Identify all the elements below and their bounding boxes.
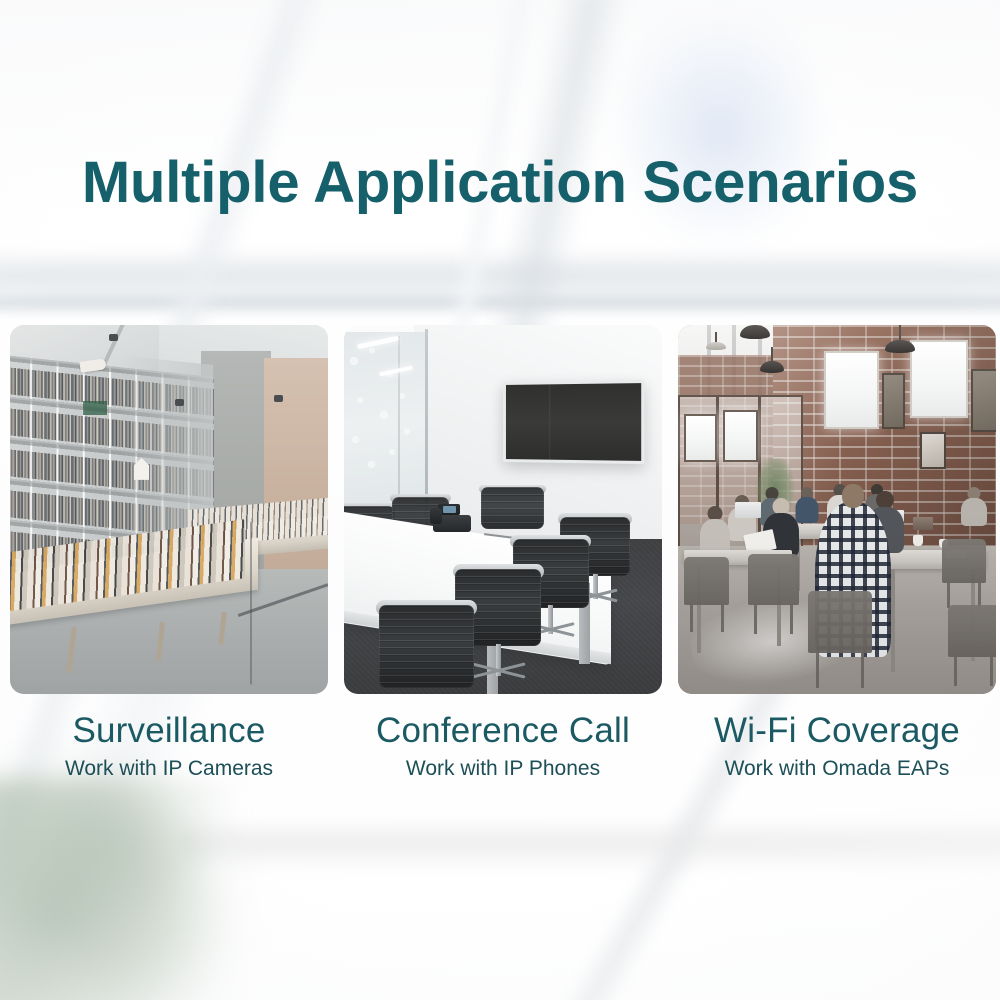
photo2-chair-near-4 — [379, 605, 474, 694]
scenario-title: Wi-Fi Coverage — [678, 712, 996, 749]
photo2-wall-tv — [503, 380, 645, 464]
scenario-caption-wifi-coverage: Wi-Fi Coverage Work with Omada EAPs — [678, 694, 996, 780]
photo2-chair-ribs — [379, 605, 474, 687]
scenario-card-conference-call[interactable]: Conference Call Work with IP Phones — [344, 325, 662, 780]
photo2-glass-mullion-2 — [398, 336, 400, 521]
photo2-tv-seam — [549, 385, 550, 460]
photo1-table-legs — [42, 620, 265, 686]
photo2-ip-phone — [433, 502, 471, 532]
bookstore-library-photo — [10, 325, 328, 694]
photo1-ceiling-spotlight-1 — [109, 334, 118, 341]
photo2-phone-handset — [430, 508, 442, 524]
scenario-subtitle: Work with Omada EAPs — [678, 749, 996, 780]
scenario-caption-conference-call: Conference Call Work with IP Phones — [344, 694, 662, 780]
scenario-title: Conference Call — [344, 712, 662, 749]
photo3-color-grade — [678, 325, 996, 694]
scenario-card-wifi-coverage[interactable]: Wi-Fi Coverage Work with Omada EAPs — [678, 325, 996, 780]
photo1-ceiling-spotlight-3 — [274, 395, 283, 402]
scenario-subtitle: Work with IP Phones — [344, 749, 662, 780]
photo1-table-leg-2 — [156, 621, 165, 660]
conference-room-photo — [344, 325, 662, 694]
scenario-card-surveillance[interactable]: Surveillance Work with IP Cameras — [10, 325, 328, 780]
photo1-green-sign — [83, 401, 107, 415]
scenario-card-row: Surveillance Work with IP Cameras — [10, 325, 988, 780]
scenario-subtitle: Work with IP Cameras — [10, 749, 328, 780]
page-title: Multiple Application Scenarios — [0, 154, 1000, 212]
photo1-ceiling-spotlight-2 — [175, 399, 184, 406]
marketing-banner: Multiple Application Scenarios — [0, 0, 1000, 1000]
scenario-caption-surveillance: Surveillance Work with IP Cameras — [10, 694, 328, 780]
photo1-table-leg-1 — [66, 627, 77, 674]
cafe-coworking-photo — [678, 325, 996, 694]
photo2-chair-ribs — [481, 487, 545, 528]
photo2-phone-lcd — [443, 506, 456, 513]
scenario-title: Surveillance — [10, 712, 328, 749]
